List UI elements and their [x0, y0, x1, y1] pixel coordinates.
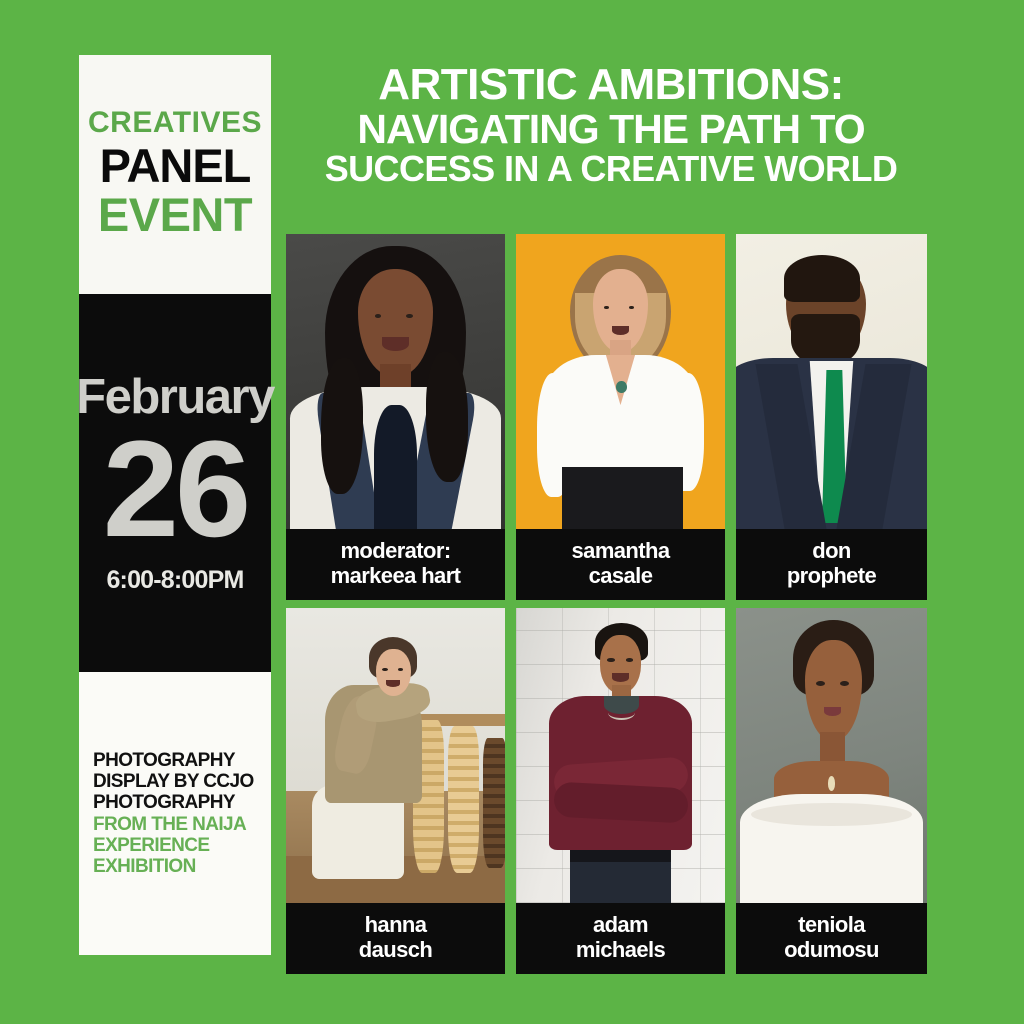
speaker-grid: moderator: markeea hart — [286, 234, 926, 974]
date-panel: February 26 6:00-8:00PM — [79, 294, 271, 672]
headline-block: ARTISTIC AMBITIONS: NAVIGATING THE PATH … — [286, 62, 936, 188]
speaker-name-line1: teniola — [740, 912, 923, 938]
speaker-photo-hanna-dausch — [286, 608, 505, 903]
note-line-3: PHOTOGRAPHY — [93, 792, 261, 813]
speaker-photo-samantha-casale — [516, 234, 725, 529]
speaker-name-line1: don — [740, 538, 923, 564]
date-day: 26 — [103, 426, 247, 553]
speaker-name-line1: samantha — [520, 538, 721, 564]
note-line-1: PHOTOGRAPHY — [93, 750, 261, 771]
headline-line-2: NAVIGATING THE PATH TO — [286, 108, 936, 151]
speaker-card-don-prophete: don prophete — [736, 234, 927, 600]
speaker-nameplate-don-prophete: don prophete — [736, 529, 927, 600]
left-info-column: CREATIVES PANEL EVENT February 26 6:00-8… — [79, 55, 271, 955]
speaker-card-teniola-odumosu: teniola odumosu — [736, 608, 927, 974]
speaker-nameplate-samantha-casale: samantha casale — [516, 529, 725, 600]
brand-line-panel: PANEL — [100, 142, 251, 189]
brand-line-creatives: CREATIVES — [88, 108, 262, 138]
note-line-4: FROM THE NAIJA — [93, 814, 261, 835]
exhibition-note-panel: PHOTOGRAPHY DISPLAY BY CCJO PHOTOGRAPHY … — [79, 672, 271, 955]
headline-line-3: SUCCESS IN A CREATIVE WORLD — [286, 150, 936, 187]
headline-line-1: ARTISTIC AMBITIONS: — [286, 62, 936, 108]
note-line-2: DISPLAY BY CCJO — [93, 771, 261, 792]
speaker-name-line2: markeea hart — [290, 563, 501, 589]
speaker-card-markeea-hart: moderator: markeea hart — [286, 234, 505, 600]
speaker-nameplate-markeea-hart: moderator: markeea hart — [286, 529, 505, 600]
speaker-name-line2: dausch — [290, 937, 501, 963]
speaker-name-line2: casale — [520, 563, 721, 589]
speaker-photo-adam-michaels — [516, 608, 725, 903]
speaker-photo-don-prophete — [736, 234, 927, 529]
speaker-photo-markeea-hart — [286, 234, 505, 529]
date-time: 6:00-8:00PM — [106, 568, 243, 593]
speaker-card-hanna-dausch: hanna dausch — [286, 608, 505, 974]
speaker-nameplate-teniola-odumosu: teniola odumosu — [736, 903, 927, 974]
speaker-name-line1: adam — [520, 912, 721, 938]
note-line-5: EXPERIENCE — [93, 835, 261, 856]
event-flyer: CREATIVES PANEL EVENT February 26 6:00-8… — [0, 0, 1024, 1024]
speaker-name-line2: prophete — [740, 563, 923, 589]
note-line-6: EXHIBITION — [93, 856, 261, 877]
speaker-card-adam-michaels: adam michaels — [516, 608, 725, 974]
speaker-name-line1: hanna — [290, 912, 501, 938]
brand-panel: CREATIVES PANEL EVENT — [79, 55, 271, 294]
speaker-name-line1: moderator: — [290, 538, 501, 564]
speaker-nameplate-hanna-dausch: hanna dausch — [286, 903, 505, 974]
speaker-photo-teniola-odumosu — [736, 608, 927, 903]
speaker-card-samantha-casale: samantha casale — [516, 234, 725, 600]
speaker-nameplate-adam-michaels: adam michaels — [516, 903, 725, 974]
brand-line-event: EVENT — [98, 191, 252, 238]
speaker-name-line2: michaels — [520, 937, 721, 963]
speaker-name-line2: odumosu — [740, 937, 923, 963]
